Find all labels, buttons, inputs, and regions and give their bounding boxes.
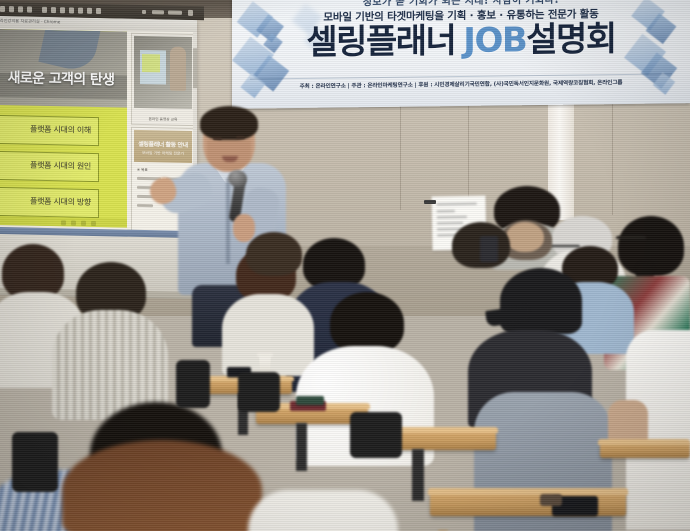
cup-lid (257, 353, 273, 357)
banner-title: 셀링플래너JOB설명회 (232, 21, 690, 61)
sunglasses-icon (616, 236, 646, 244)
slide-side-panel-video: 온라인 동영상 교육 (131, 33, 195, 126)
audience-head (62, 440, 262, 531)
slide-footer (0, 216, 127, 228)
presenter-eye-left (213, 137, 222, 140)
desk-leg (412, 449, 424, 501)
audience-head-skin (506, 222, 544, 252)
phone-case (540, 494, 562, 506)
side-panel-doc-heading: ※ 목표 (137, 168, 148, 173)
slide-bullet: 플랫폼 시대의 방향 (0, 187, 99, 219)
side-panel-caption: 온라인 동영상 교육 (132, 117, 194, 123)
chair-back (176, 360, 210, 408)
presenter-hair (200, 106, 258, 140)
banner-title-part3: 설명회 (526, 19, 615, 60)
presenter-face-shadow (207, 140, 251, 170)
wall-seam (612, 95, 613, 215)
desk-leg (296, 423, 307, 471)
chair-back (12, 432, 58, 492)
scrollbar-thumb[interactable] (193, 48, 197, 88)
banner-title-part2: JOB (463, 20, 526, 61)
chair-back (238, 372, 280, 412)
presenter-eye-right (236, 136, 245, 139)
slide-bullet-label: 플랫폼 시대의 원인 (30, 160, 91, 172)
slide-bullet-label: 플랫폼 시대의 이해 (30, 124, 91, 136)
baseball-cap (500, 268, 582, 334)
tablet-device (480, 236, 498, 262)
banner-title-part1: 셀링플래너 (306, 21, 455, 63)
mobile-phone (296, 396, 324, 405)
audience-body (248, 490, 398, 531)
slide-bullet: 플랫폼 시대의 원인 (0, 151, 99, 183)
presenter-right-hand (233, 214, 255, 242)
desk-edge (598, 439, 690, 445)
browser-tab-label: 온라인강의용 자료관리실 - Chrome (0, 17, 60, 24)
seminar-photo: 정보가 곧 기회가 되는 시대! 사람이 기회다! 모바일 기반의 타겟마케팅을… (0, 0, 690, 531)
desk-edge (428, 488, 628, 495)
event-banner: 정보가 곧 기회가 되는 시대! 사람이 기회다! 모바일 기반의 타겟마케팅을… (232, 0, 690, 109)
slide-bullet: 플랫폼 시대의 이해 (0, 115, 99, 147)
wall-seam (400, 100, 401, 210)
side-panel-doc-title: 셀링플래너 활동 안내 (134, 139, 192, 149)
presenter-shirt-placket (226, 178, 230, 264)
slide-bullet-label: 플랫폼 시대의 방향 (30, 196, 91, 208)
audience-head (330, 292, 404, 354)
side-panel-doc-subtitle: 모바일 기반 마케팅 전문가 (134, 150, 192, 157)
slide: 새로운 고객의 탄생 플랫폼 시대의 이해 플랫폼 시대의 원인 플랫폼 시대의… (0, 29, 127, 228)
notice-clip (424, 200, 436, 204)
slide-title: 새로운 고객의 탄생 (0, 67, 127, 90)
audience-head (246, 232, 302, 276)
chair-back (350, 412, 402, 458)
